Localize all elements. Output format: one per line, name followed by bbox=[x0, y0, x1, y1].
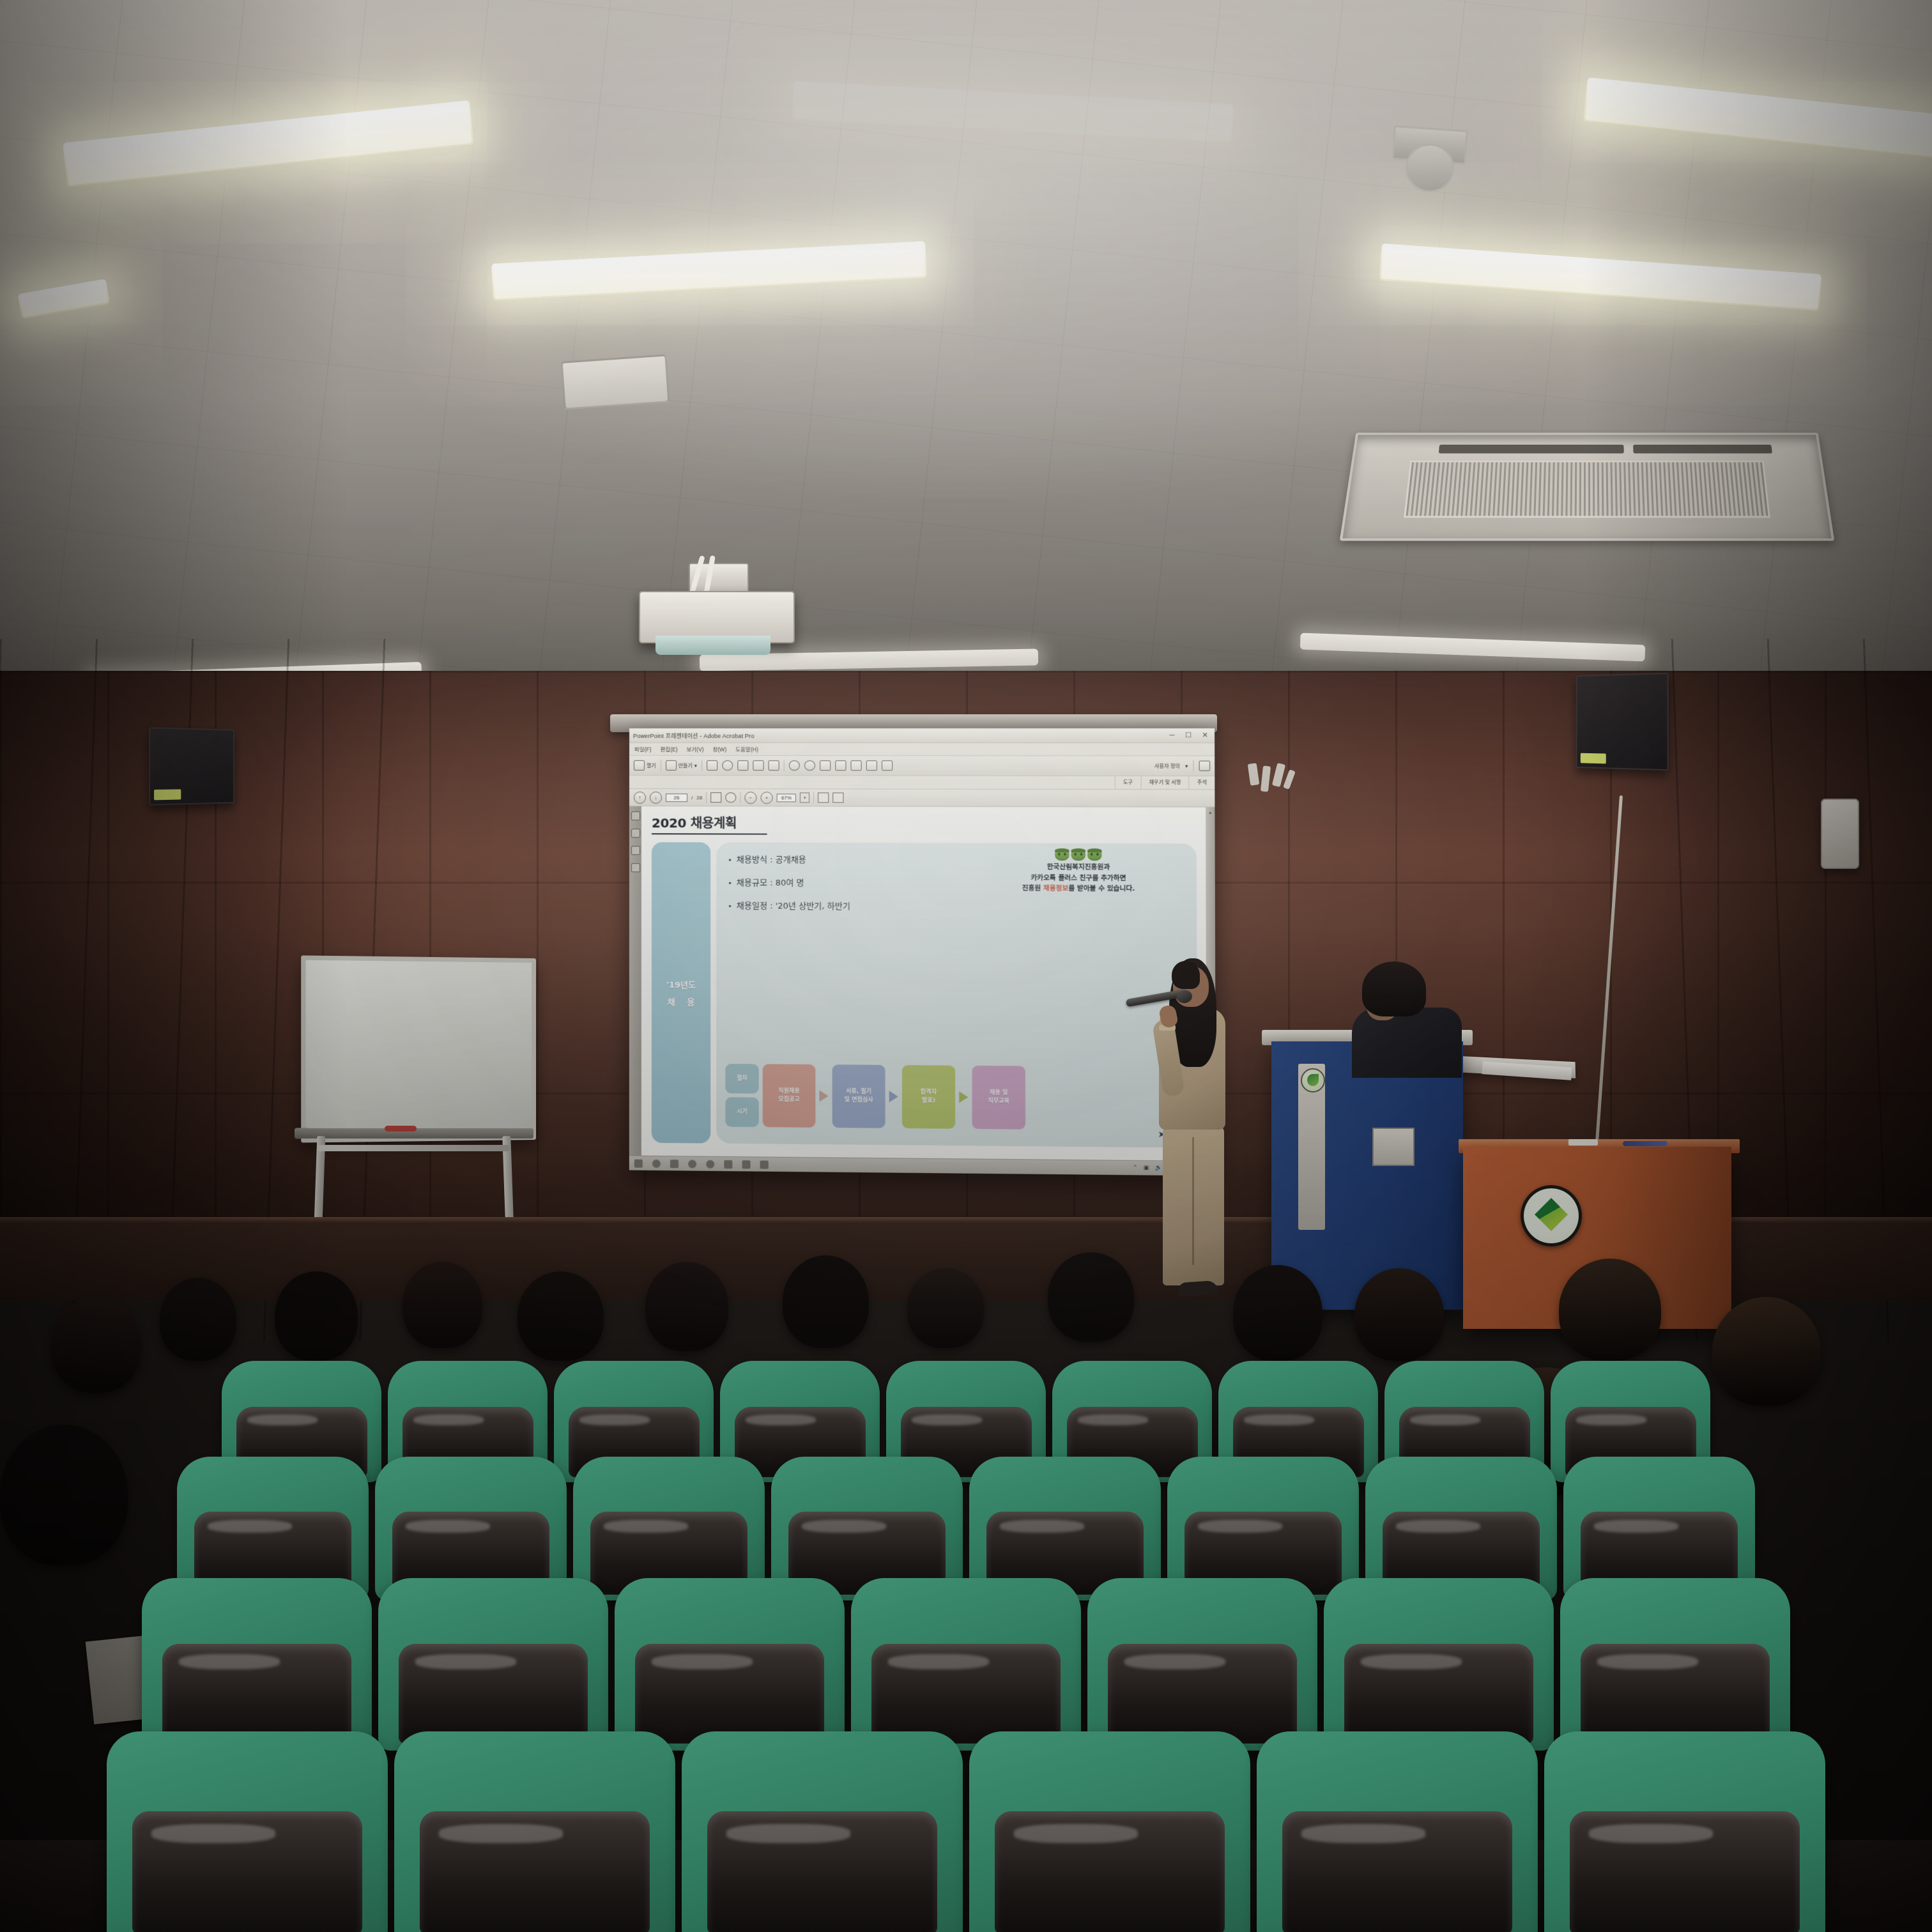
minimize-icon[interactable]: ─ bbox=[1170, 732, 1175, 739]
organization-emblem-icon bbox=[1521, 1185, 1582, 1246]
zoom-level-input[interactable]: 67% bbox=[777, 793, 796, 802]
seat-back bbox=[394, 1731, 675, 1932]
seat-back bbox=[378, 1578, 608, 1751]
seat-back bbox=[682, 1731, 963, 1932]
auditorium-seat bbox=[1257, 1731, 1538, 1932]
flow-step-1: 직원채용 모집공고 bbox=[763, 1064, 816, 1128]
side-navigation-rail bbox=[629, 806, 641, 1156]
zoom-in-icon[interactable]: + bbox=[761, 792, 773, 804]
close-icon[interactable]: ✕ bbox=[1202, 732, 1207, 739]
seat-highlight bbox=[802, 1520, 886, 1533]
search-icon[interactable] bbox=[652, 1159, 661, 1167]
slide-content-panel: 채용방식 : 공개채용 채용규모 : 80여 명 채용일정 : '20년 상반기… bbox=[716, 843, 1197, 1148]
seat-highlight bbox=[1124, 1654, 1225, 1669]
seat-highlight bbox=[406, 1520, 490, 1533]
slide-page: 2020 채용계획 '19년도 채 용 채용방식 : 공개채용 채용규모 : 8… bbox=[641, 806, 1207, 1161]
slide-title: 2020 채용계획 bbox=[652, 813, 1197, 832]
seat-highlight bbox=[179, 1654, 280, 1669]
menu-item-file[interactable]: 파일(F) bbox=[634, 746, 652, 753]
flow-step-line1: 채용 및 bbox=[990, 1089, 1008, 1098]
menu-item-edit[interactable]: 편집(E) bbox=[660, 746, 677, 753]
open-label: 열기 bbox=[647, 762, 656, 769]
flow-arrow-icon bbox=[959, 1092, 968, 1103]
seat-back bbox=[851, 1578, 1081, 1751]
whiteboard bbox=[301, 955, 536, 1142]
side-band-line1: '19년도 bbox=[666, 978, 696, 990]
window-title-bar: PowerPoint 프레젠테이션 - Adobe Acrobat Pro ─ … bbox=[629, 728, 1215, 743]
seat-highlight bbox=[1576, 1414, 1646, 1425]
toolbar-separator bbox=[661, 760, 661, 771]
menu-item-view[interactable]: 보기(V) bbox=[687, 746, 704, 753]
tab-comment[interactable]: 주석 bbox=[1189, 776, 1215, 789]
cloud-upload-icon[interactable] bbox=[722, 760, 733, 770]
seat-highlight bbox=[1301, 1824, 1425, 1843]
speaker-label bbox=[1581, 753, 1606, 764]
start-icon[interactable] bbox=[634, 1159, 643, 1167]
speaker-label bbox=[154, 789, 181, 800]
seat-highlight bbox=[415, 1654, 516, 1669]
toolbar-separator bbox=[701, 760, 702, 771]
page-thumbnails-icon[interactable] bbox=[631, 811, 640, 820]
attachments-icon[interactable] bbox=[631, 846, 640, 855]
hand-tool-icon[interactable] bbox=[725, 792, 736, 802]
organize-icon[interactable] bbox=[882, 760, 893, 770]
flow-step-4: 채용 및 직무교육 bbox=[972, 1066, 1025, 1130]
seat-highlight bbox=[579, 1414, 650, 1425]
seat-back bbox=[969, 1731, 1250, 1932]
create-button[interactable]: 만들기 ▾ bbox=[666, 760, 697, 770]
bookmarks-icon[interactable] bbox=[631, 829, 640, 838]
toolbar-separator bbox=[1193, 760, 1193, 772]
menu-item-window[interactable]: 창(W) bbox=[713, 746, 727, 753]
chevron-down-icon: ▾ bbox=[694, 763, 697, 769]
whiteboard-marker bbox=[385, 1126, 417, 1131]
menu-bar: 파일(F) 편집(E) 보기(V) 창(W) 도움말(H) bbox=[629, 743, 1215, 756]
page-down-icon[interactable]: ↓ bbox=[650, 792, 662, 804]
seat-highlight bbox=[1014, 1824, 1138, 1843]
callout-highlight: 채용정보 bbox=[1043, 884, 1068, 892]
callout-line-2: 카카오톡 플러스 친구를 추가하면 bbox=[971, 873, 1186, 884]
title-underline bbox=[652, 833, 767, 835]
wall-fire-alarm-box bbox=[1821, 799, 1859, 869]
presenter-hair-front bbox=[1172, 961, 1200, 989]
seat-highlight bbox=[1396, 1520, 1480, 1533]
wall-speaker-left bbox=[149, 727, 234, 806]
flow-step-line1: 직원채용 bbox=[778, 1087, 799, 1096]
auditorium-seat bbox=[969, 1731, 1250, 1932]
callout-line-1: 한국산림복지진흥원과 bbox=[971, 862, 1186, 873]
show-hidden-icons-icon[interactable]: ⌃ bbox=[1133, 1164, 1138, 1171]
kakao-callout: 한국산림복지진흥원과 카카오톡 플러스 친구를 추가하면 진흥원 채용정보를 받… bbox=[971, 848, 1186, 894]
operator-hair bbox=[1362, 962, 1426, 1016]
seat-highlight bbox=[604, 1520, 688, 1533]
auditorium-seat bbox=[851, 1578, 1081, 1751]
auditorium-seat bbox=[378, 1578, 608, 1751]
attach-icon[interactable] bbox=[850, 760, 861, 770]
podium-clip bbox=[1568, 1139, 1598, 1146]
seat-highlight bbox=[1244, 1414, 1314, 1425]
av-connector-panel bbox=[1372, 1128, 1414, 1166]
flow-step-line2: 및 면접심사 bbox=[845, 1096, 873, 1105]
acrobat-window: PowerPoint 프레젠테이션 - Adobe Acrobat Pro ─ … bbox=[629, 728, 1216, 1176]
acrobat-icon[interactable] bbox=[742, 1160, 751, 1169]
seat-highlight bbox=[413, 1414, 484, 1425]
flow-label-stack: 절차 시기 bbox=[725, 1064, 758, 1127]
seat-back bbox=[142, 1578, 372, 1751]
main-toolbar: 열기 만들기 ▾ bbox=[629, 756, 1215, 776]
auditorium-seat bbox=[1560, 1578, 1790, 1751]
flow-label-timing: 시기 bbox=[725, 1098, 758, 1128]
flow-step-line2: 직무교육 bbox=[988, 1098, 1009, 1106]
seat-highlight bbox=[439, 1824, 563, 1843]
seat-row bbox=[0, 1731, 1932, 1932]
callout-line3-post: 를 받아볼 수 있습니다. bbox=[1068, 884, 1135, 893]
seat-highlight bbox=[247, 1414, 318, 1425]
seat-highlight bbox=[151, 1824, 275, 1843]
auditorium-seat bbox=[1544, 1731, 1825, 1932]
slide-side-band: '19년도 채 용 bbox=[652, 843, 710, 1144]
av-operator-person bbox=[1348, 962, 1466, 1073]
open-folder-icon bbox=[634, 760, 645, 770]
toolbar-separator bbox=[813, 792, 814, 803]
chevron-down-icon[interactable]: ▾ bbox=[800, 792, 809, 802]
seat-back bbox=[1087, 1578, 1317, 1751]
seat-back bbox=[1544, 1731, 1825, 1932]
auditorium-seat bbox=[142, 1578, 372, 1751]
callout-line3-pre: 진흥원 bbox=[1022, 884, 1043, 892]
kakao-character-icon bbox=[1087, 848, 1101, 861]
chrome-icon[interactable] bbox=[706, 1160, 714, 1168]
scroll-up-icon[interactable]: ▴ bbox=[1209, 810, 1211, 815]
auditorium-seat bbox=[1324, 1578, 1554, 1751]
flow-step-line2: 발표) bbox=[922, 1097, 935, 1105]
wall-speaker-right bbox=[1576, 673, 1669, 770]
page-separator: / bbox=[691, 795, 693, 801]
flow-step-line2: 모집공고 bbox=[778, 1096, 799, 1104]
print-icon[interactable] bbox=[737, 760, 748, 770]
flow-step-3: 합격자 발표) bbox=[902, 1065, 955, 1129]
bullet-item: 채용일정 : '20년 상반기, 하반기 bbox=[728, 899, 1188, 913]
tab-tools[interactable]: 도구 bbox=[1115, 776, 1141, 789]
auditorium-seat bbox=[107, 1731, 388, 1932]
sign-icon[interactable] bbox=[789, 760, 800, 770]
save-icon[interactable] bbox=[707, 760, 717, 770]
seat-back bbox=[1257, 1731, 1538, 1932]
flow-step-2: 서류, 필기 및 면접심사 bbox=[832, 1065, 885, 1129]
flow-step-line1: 서류, 필기 bbox=[846, 1088, 871, 1096]
auditorium-seat bbox=[682, 1731, 963, 1932]
projection-screen: PowerPoint 프레젠테이션 - Adobe Acrobat Pro ─ … bbox=[629, 728, 1216, 1176]
auditorium-seat bbox=[1087, 1578, 1317, 1751]
kakao-character-icon bbox=[1055, 848, 1069, 861]
auditorium-seat bbox=[394, 1731, 675, 1932]
seat-highlight bbox=[1594, 1520, 1678, 1533]
auditorium-seating bbox=[0, 1246, 1932, 1932]
toolbar-separator bbox=[706, 792, 707, 803]
maximize-icon[interactable]: ☐ bbox=[1185, 732, 1192, 739]
auditorium-presentation-photo: PowerPoint 프레젠테이션 - Adobe Acrobat Pro ─ … bbox=[0, 0, 1932, 1932]
document-area: 2020 채용계획 '19년도 채 용 채용방식 : 공개채용 채용규모 : 8… bbox=[629, 806, 1216, 1161]
flow-arrow-icon bbox=[889, 1091, 898, 1103]
create-label: 만들기 bbox=[678, 762, 693, 769]
flow-step-line1: 합격자 bbox=[921, 1089, 937, 1097]
page-total: 28 bbox=[696, 795, 702, 801]
edit-icon[interactable] bbox=[753, 760, 763, 770]
seat-highlight bbox=[726, 1824, 850, 1843]
seat-highlight bbox=[1410, 1414, 1480, 1425]
customize-toolbar-label[interactable]: 사용자 정의 bbox=[1154, 762, 1180, 769]
seat-highlight bbox=[1361, 1654, 1462, 1669]
podium-pen bbox=[1623, 1141, 1667, 1146]
seat-row bbox=[0, 1578, 1932, 1751]
page-navigation-bar: ↑ ↓ 26 / 28 − + 67% ▾ bbox=[629, 789, 1215, 808]
recruitment-process-flow: 절차 시기 직원채용 모집공고 서류, 필기 bbox=[725, 1064, 1186, 1131]
seat-highlight bbox=[1000, 1520, 1084, 1533]
export-icon[interactable] bbox=[866, 760, 877, 770]
open-button[interactable]: 열기 bbox=[634, 760, 656, 770]
seat-highlight bbox=[652, 1654, 753, 1669]
menu-item-help[interactable]: 도움말(H) bbox=[735, 746, 758, 753]
seat-highlight bbox=[1078, 1414, 1148, 1425]
forest-welfare-emblem-icon bbox=[1301, 1068, 1325, 1092]
explorer-icon[interactable] bbox=[724, 1160, 732, 1168]
toolbar-separator bbox=[784, 760, 785, 771]
select-cursor-icon[interactable] bbox=[710, 792, 721, 802]
signatures-icon[interactable] bbox=[631, 863, 640, 872]
callout-line-3: 진흥원 채용정보를 받아볼 수 있습니다. bbox=[971, 883, 1186, 894]
flow-arrow-icon bbox=[819, 1091, 828, 1102]
seat-back bbox=[1560, 1578, 1790, 1751]
whiteboard-crossbar bbox=[318, 1145, 509, 1151]
seat-highlight bbox=[888, 1654, 989, 1669]
seat-highlight bbox=[1597, 1654, 1698, 1669]
kakao-character-icon bbox=[1071, 848, 1085, 861]
seat-back bbox=[107, 1731, 388, 1932]
comment-icon[interactable] bbox=[804, 760, 815, 770]
highlight-icon[interactable] bbox=[820, 760, 831, 770]
chevron-down-icon[interactable]: ▾ bbox=[1185, 763, 1188, 769]
mail-icon[interactable] bbox=[768, 760, 779, 770]
seat-highlight bbox=[1589, 1824, 1713, 1843]
seat-highlight bbox=[746, 1414, 816, 1425]
seat-back bbox=[1324, 1578, 1554, 1751]
side-band-line2: 채 용 bbox=[663, 995, 700, 1008]
tab-fill-and-sign[interactable]: 채우기 및 서명 bbox=[1140, 776, 1188, 789]
select-tool-icon[interactable] bbox=[1199, 761, 1210, 771]
kakao-friends-icons bbox=[971, 848, 1186, 861]
flow-label-procedure: 절차 bbox=[725, 1064, 758, 1094]
seat-back bbox=[615, 1578, 845, 1751]
page-up-icon[interactable]: ↑ bbox=[634, 792, 646, 804]
create-pdf-icon bbox=[666, 760, 677, 770]
page-number-input[interactable]: 26 bbox=[666, 793, 687, 802]
seat-highlight bbox=[208, 1520, 292, 1533]
fit-page-icon[interactable] bbox=[818, 792, 829, 802]
seat-highlight bbox=[1198, 1520, 1282, 1533]
toolbar-separator bbox=[740, 792, 740, 803]
zoom-out-icon[interactable]: − bbox=[745, 792, 757, 804]
seat-highlight bbox=[912, 1414, 982, 1425]
auditorium-seat bbox=[615, 1578, 845, 1751]
stamp-icon[interactable] bbox=[835, 760, 846, 770]
tool-tabs-bar: 도구 채우기 및 서명 주석 bbox=[629, 776, 1215, 790]
task-view-icon[interactable] bbox=[670, 1160, 678, 1168]
operator-body bbox=[1352, 1008, 1462, 1078]
edge-icon[interactable] bbox=[688, 1160, 696, 1168]
window-title: PowerPoint 프레젠테이션 - Adobe Acrobat Pro bbox=[633, 732, 755, 740]
hangul-icon[interactable] bbox=[760, 1160, 769, 1169]
fullscreen-icon[interactable] bbox=[832, 792, 843, 802]
